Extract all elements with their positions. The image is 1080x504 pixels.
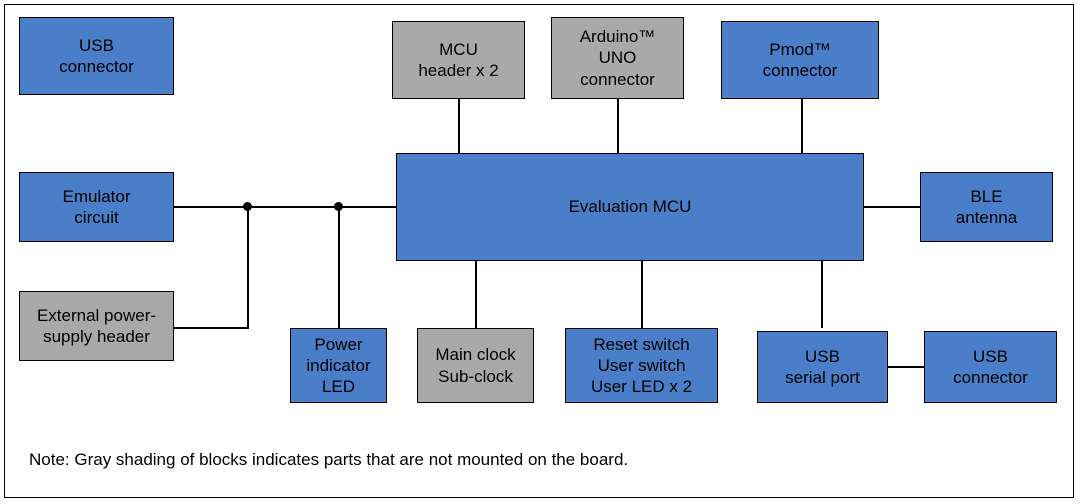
block-power-indicator-led[interactable]: Power indicator LED (290, 328, 387, 403)
block-emulator-circuit[interactable]: Emulator circuit (19, 172, 174, 242)
block-mcu-header[interactable]: MCU header x 2 (392, 21, 525, 99)
block-usb-serial-port[interactable]: USB serial port (757, 331, 888, 403)
block-usb-connector-top[interactable]: USB connector (19, 17, 174, 95)
connector-emulator-to-mcu (174, 206, 397, 208)
connector-power-led (338, 206, 340, 328)
block-ble-antenna-label: BLE antenna (956, 186, 1017, 229)
block-evaluation-mcu[interactable]: Evaluation MCU (396, 153, 864, 261)
block-usb-connector-top-label: USB connector (59, 35, 134, 78)
diagram-note: Note: Gray shading of blocks indicates p… (29, 450, 628, 470)
block-emulator-circuit-label: Emulator circuit (62, 186, 130, 229)
block-usb-connector-bottom-label: USB connector (953, 346, 1028, 389)
connector-pmod (801, 99, 803, 153)
block-main-clock-label: Main clock Sub-clock (435, 344, 515, 387)
block-usb-connector-bottom[interactable]: USB connector (924, 331, 1057, 403)
block-arduino-uno-connector-label: Arduino™ UNO connector (580, 26, 656, 90)
block-main-clock[interactable]: Main clock Sub-clock (417, 328, 534, 403)
connector-mcu-to-ble (864, 206, 921, 208)
connector-extpower-vertical (247, 206, 249, 329)
connector-mcu-header (458, 99, 460, 153)
connector-serial-to-usb (888, 366, 924, 368)
block-usb-serial-port-label: USB serial port (785, 346, 860, 389)
block-pmod-connector-label: Pmod™ connector (763, 39, 838, 82)
connector-main-clock (475, 261, 477, 328)
block-external-power-supply-header[interactable]: External power- supply header (19, 291, 174, 361)
block-power-indicator-led-label: Power indicator LED (306, 334, 370, 398)
block-diagram-canvas: USB connector MCU header x 2 Arduino™ UN… (0, 0, 1080, 504)
block-evaluation-mcu-label: Evaluation MCU (569, 196, 692, 217)
connector-extpower-horizontal (174, 327, 249, 329)
block-mcu-header-label: MCU header x 2 (418, 39, 498, 82)
block-external-power-supply-header-label: External power- supply header (37, 305, 156, 348)
connector-switches (641, 261, 643, 328)
block-pmod-connector[interactable]: Pmod™ connector (721, 21, 879, 99)
block-switches-leds-label: Reset switch User switch User LED x 2 (591, 334, 692, 398)
block-ble-antenna[interactable]: BLE antenna (920, 172, 1053, 242)
block-switches-leds[interactable]: Reset switch User switch User LED x 2 (565, 328, 718, 403)
connector-usb-serial (821, 261, 823, 328)
connector-arduino-uno (617, 99, 619, 153)
block-arduino-uno-connector[interactable]: Arduino™ UNO connector (551, 17, 684, 99)
